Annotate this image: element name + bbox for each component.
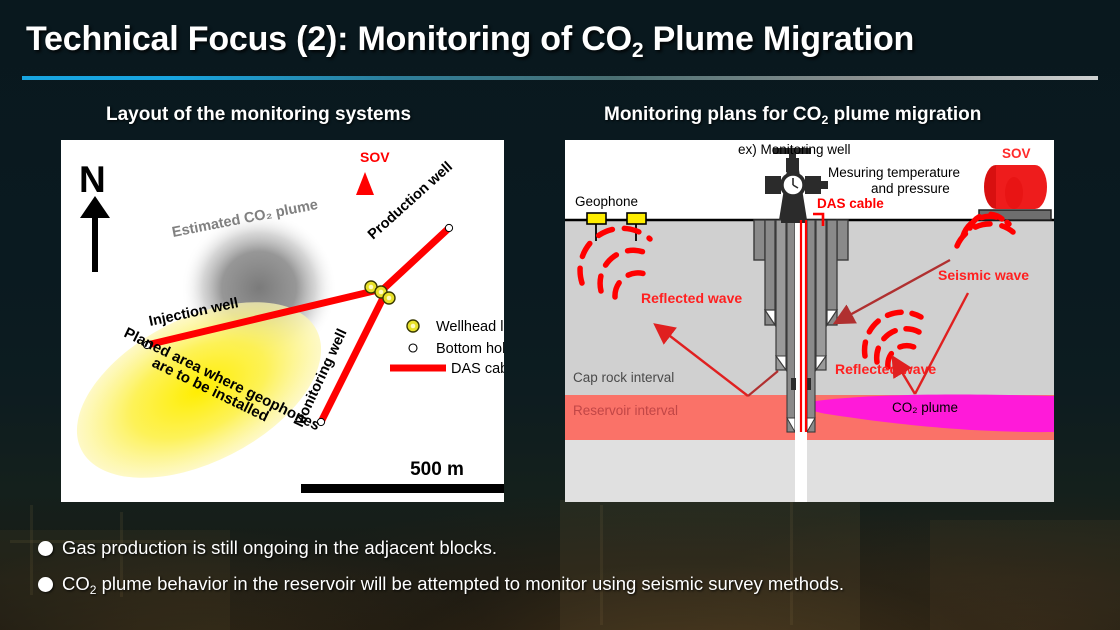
monitoring-cross-section-panel: Geophone SOV [565, 140, 1054, 502]
north-label: N [79, 159, 106, 200]
reflected-wave-label-left: Reflected wave [641, 290, 742, 306]
bg-rig-strut-3 [600, 505, 603, 625]
reservoir-interval-label: Reservoir interval [573, 403, 678, 418]
scale-bar-line [301, 484, 504, 493]
co2-plume-label-right: CO₂ plume [892, 400, 958, 415]
bg-rig-strut-4 [790, 500, 793, 625]
geophone-box-1 [587, 213, 606, 224]
sov-vessel [979, 165, 1051, 220]
bullet-text-2-post: plume behavior in the reservoir will be … [96, 573, 844, 594]
bullet-text-2: CO2 plume behavior in the reservoir will… [62, 573, 844, 595]
cap-rock-interval-label: Cap rock interval [573, 370, 674, 385]
monitoring-well-caption: ex) Monitoring well [738, 142, 851, 157]
sov-body-seam [1005, 177, 1023, 209]
intermediate-casing-right [816, 220, 826, 370]
measuring-caption-line1: Mesuring temperature [828, 165, 960, 180]
das-cable-label-right: DAS cable [817, 196, 884, 211]
title-underline-rule [22, 76, 1098, 80]
right-panel-heading: Monitoring plans for CO2 plume migration [604, 104, 981, 126]
left-panel-heading-text: Layout of the monitoring systems [106, 104, 411, 125]
legend-wellhead-icon-core [411, 324, 416, 329]
bullet-item-2: CO2 plume behavior in the reservoir will… [38, 573, 844, 595]
bg-rig-silhouette-2 [560, 500, 860, 630]
scale-bar-label: 500 m [410, 459, 464, 480]
page-title-post: Plume Migration [643, 20, 914, 58]
sov-body-right-cap [1023, 165, 1047, 209]
wellhead-marker-1-core [369, 285, 374, 290]
slide-root: Technical Focus (2): Monitoring of CO2 P… [0, 0, 1120, 630]
sov-marker-left: SOV [356, 149, 390, 195]
right-panel-heading-subscript: 2 [821, 113, 828, 127]
bullet-item-1: Gas production is still ongoing in the a… [38, 537, 497, 559]
wellhead-marker-3-core [387, 296, 392, 301]
geophone-box-2 [627, 213, 646, 224]
conductor-casing-left [754, 220, 765, 260]
north-arrow-icon: N [79, 159, 110, 272]
underburden-layer [565, 440, 1054, 502]
bg-rig-silhouette-3 [930, 520, 1120, 630]
bullet-text-2-subscript: 2 [90, 583, 97, 597]
legend-bottomhole-icon [409, 344, 417, 352]
bullet-text-1: Gas production is still ongoing in the a… [62, 537, 497, 559]
reflected-wave-label-right: Reflected wave [835, 361, 936, 377]
surface-casing-right [827, 220, 837, 325]
bg-rig-strut-1 [30, 505, 33, 595]
right-panel-heading-pre: Monitoring plans for CO [604, 104, 821, 125]
left-panel-heading: Layout of the monitoring systems [106, 104, 411, 126]
map-legend: Wellhead loc. Bottom hole loc. DAS cable [390, 319, 504, 377]
bullet-text-1-pre: Gas production is still ongoing in the a… [62, 537, 497, 558]
production-casing-left [787, 220, 795, 432]
production-casing-right [807, 220, 815, 432]
wellhead-marker-2-core [379, 290, 384, 295]
measuring-caption-line2: and pressure [871, 181, 950, 196]
seismic-wave-label: Seismic wave [938, 267, 1029, 283]
scale-bar: 500 m [301, 459, 504, 493]
conductor-casing-right [837, 220, 848, 260]
intermediate-casing-left [776, 220, 786, 370]
packer-left [791, 378, 796, 390]
monitoring-layout-map-panel: N SOV [61, 140, 504, 502]
bottomhole-marker-production [445, 224, 452, 231]
bullet-dot-icon [38, 577, 53, 592]
bullet-dot-icon [38, 541, 53, 556]
legend-wellhead-label: Wellhead loc. [436, 319, 504, 335]
sov-label-right: SOV [1002, 146, 1031, 161]
legend-bottomhole-label: Bottom hole loc. [436, 341, 504, 357]
bullet-text-2-pre: CO [62, 573, 90, 594]
production-well-cable [379, 228, 449, 293]
legend-das-cable-label: DAS cable [451, 361, 504, 377]
page-title-subscript: 2 [632, 39, 644, 62]
surface-casing-left [765, 220, 775, 325]
geophone-label: Geophone [575, 194, 638, 209]
sov-label-left: SOV [360, 149, 390, 165]
page-title: Technical Focus (2): Monitoring of CO2 P… [26, 20, 914, 59]
page-title-pre: Technical Focus (2): Monitoring of CO [26, 20, 632, 58]
right-panel-heading-post: plume migration [828, 104, 981, 125]
